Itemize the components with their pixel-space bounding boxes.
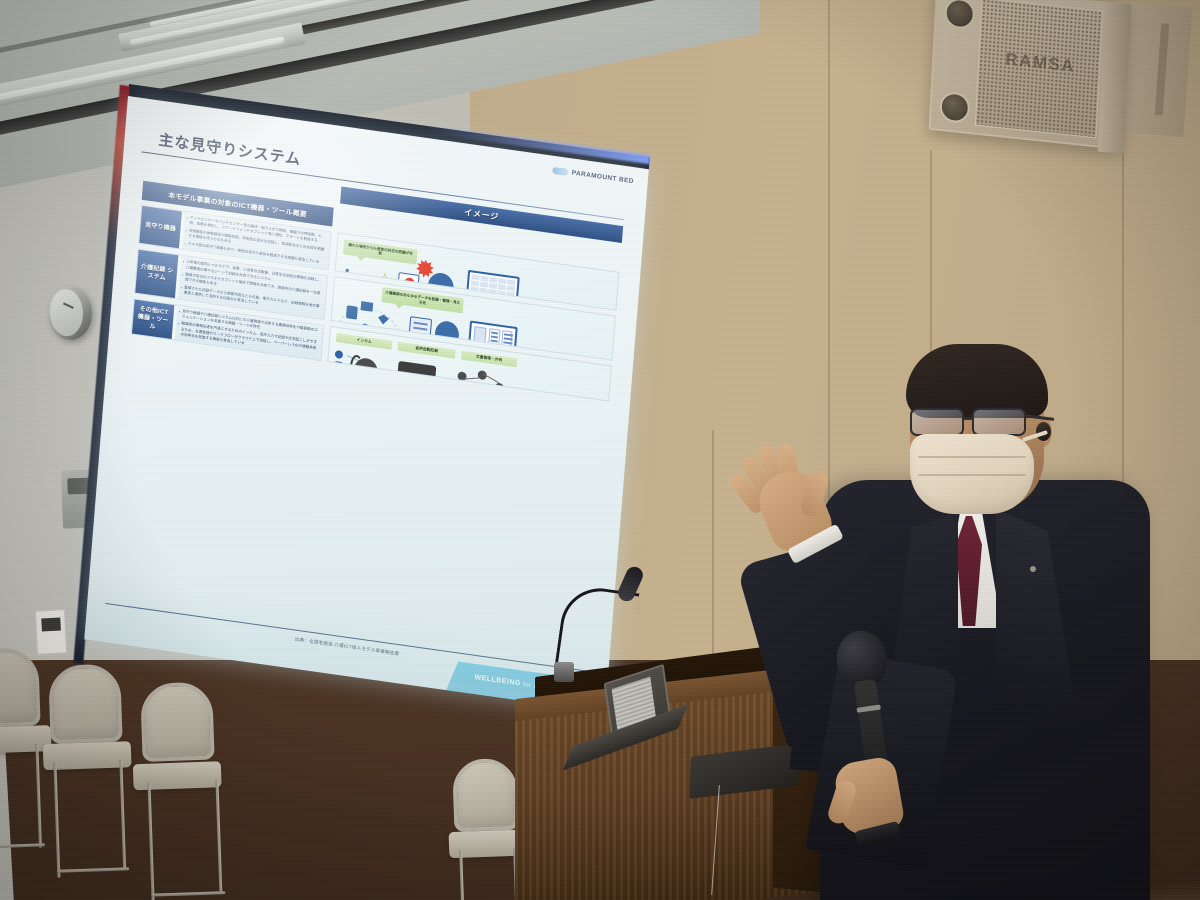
bullet-dot: • [182, 272, 184, 278]
slide-logo: PARAMOUNT BED [552, 167, 634, 185]
headset-icon [349, 354, 363, 378]
brand-badge-main: WELLBEING [474, 674, 521, 687]
gooseneck-microphone[interactable] [560, 588, 650, 698]
presenter-hair [906, 344, 1048, 418]
presenter [760, 330, 1200, 900]
row-label-other-ict: その他ICT 機器・ツール [132, 299, 174, 339]
bullet-dot: • [178, 321, 180, 327]
lens-left [910, 408, 964, 436]
presenter-lapel-pin [1030, 566, 1036, 572]
sub-label-intercom: インカム [336, 332, 392, 349]
glasses-temple [1024, 414, 1054, 420]
speaker-grille: RAMSA [975, 0, 1103, 138]
bullet-dot: • [185, 228, 187, 234]
wall-notice [35, 609, 67, 655]
callout-bubble: 介護業務のあらゆるデータを記録・管理・見える化 [381, 287, 464, 313]
bullet-dot: • [183, 259, 185, 265]
paramount-bed-logo-mark [552, 167, 568, 176]
bullet-dot: • [181, 285, 183, 291]
bullet-dot: • [186, 215, 188, 221]
laptop-icon [399, 385, 437, 402]
sub-label-voice-record: 音声自動記録 [397, 341, 455, 358]
source-divider [105, 603, 587, 672]
presentation-photo-scene: RAMSA 禁煙 PARAMOUNT BED 主な見守りシステム [0, 0, 1200, 900]
speech-bubble-icon [397, 360, 437, 391]
wall-clock [47, 285, 94, 341]
checklist-icon [483, 399, 509, 402]
headset-person-body [343, 381, 385, 402]
globe-icon [411, 392, 426, 401]
intercom-user-icon [335, 349, 344, 358]
slide-table: 本モデル事業の対象のICT機器・ツール概要 見守り機器 • マットセンサーやベッ… [131, 181, 622, 402]
network-nodes-icon [452, 366, 508, 402]
speaker-driver-top [944, 0, 975, 30]
slide-logo-text: PARAMOUNT BED [571, 169, 634, 185]
meal-icon [346, 305, 358, 319]
row-label-care-record: 介護記録 システム [135, 250, 178, 298]
sub-label-doc-share: 文書管理・共有 [461, 350, 517, 367]
glasses-bridge [964, 417, 974, 420]
speaker-brand-label: RAMSA [979, 47, 1102, 80]
callout-bubble: 離れた場所からも居室の状況の把握が可能 [343, 239, 418, 264]
speaker-driver-bottom [939, 91, 970, 124]
bullet-dot: • [179, 308, 181, 314]
bullet-dot: • [184, 241, 186, 247]
mic-base [554, 662, 574, 682]
intercom-user-body [333, 360, 345, 371]
lens-right [972, 408, 1026, 436]
bed-icon [361, 301, 374, 312]
row-label-monitoring: 見守り機器 [139, 206, 182, 249]
pa-speaker: RAMSA [929, 0, 1130, 150]
face-mask [910, 434, 1034, 514]
